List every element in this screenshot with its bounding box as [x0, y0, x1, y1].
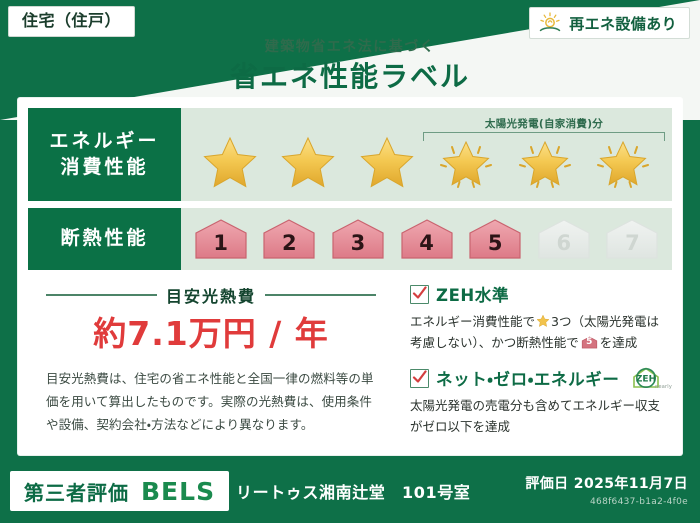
insulation-level-house: 1: [192, 217, 250, 261]
evaluation-info: 評価日 2025年11月7日 468f6437-b1a2-4f0e: [525, 473, 688, 507]
checkbox-checked-icon: [410, 285, 429, 304]
insulation-performance-row: 断熱性能 1 2: [28, 208, 672, 270]
insulation-level-number: 3: [351, 233, 366, 261]
housing-type-tag: 住宅（住戸）: [8, 6, 135, 37]
energy-row-label-line1: エネルギー: [49, 129, 159, 155]
criterion-body-post: を達成: [600, 335, 638, 350]
cost-rule-left: [46, 294, 157, 296]
criterion-body-starcount: 3つ（太陽光発電: [551, 314, 646, 329]
insulation-level-house: 7: [603, 217, 661, 261]
inline-house-icon: 5: [581, 335, 598, 350]
zeh-logo-icon: ZEH nearly: [630, 366, 670, 390]
building-name: リートゥス湘南辻堂 101号室: [236, 479, 470, 503]
renewable-equipment-badge: 再エネ設備あり: [529, 7, 690, 39]
insulation-level-number: 2: [282, 233, 297, 261]
energy-star-rating: [181, 108, 672, 201]
sun-icon: [538, 12, 562, 34]
svg-text:ZEH: ZEH: [636, 375, 656, 385]
star-icon-solar: [593, 133, 653, 191]
evaluation-date: 評価日 2025年11月7日: [525, 473, 688, 493]
criterion-body: 太陽光発電の売電分も含めてエネルギー収支がゼロ以下を達成: [410, 396, 670, 437]
energy-row-body: 太陽光発電(自家消費)分: [181, 108, 672, 201]
insulation-level-number: 6: [556, 233, 571, 261]
cost-note: 目安光熱費は、住宅の省エネ性能と全国一律の燃料等の単価を用いて算出したものです。…: [46, 367, 376, 436]
inline-house-number: 5: [581, 336, 598, 349]
criterion-title-row: ネット・ゼロ・エネルギー ZEH nearly: [410, 366, 670, 390]
energy-label-root: 住宅（住戸） 再エネ設備あり 建築物省エネ法に基づく 省エネ性能ラベル: [0, 0, 700, 523]
criteria-block: ZEH水準 エネルギー消費性能で3つ（太陽光発電は考慮しない）、かつ断熱性能で5…: [410, 282, 670, 451]
star-icon: [200, 133, 260, 191]
page-title: 建築物省エネ法に基づく 省エネ性能ラベル: [0, 40, 700, 94]
star-icon-solar: [515, 133, 575, 191]
insulation-level-number: 1: [213, 233, 228, 261]
header-main-title: 省エネ性能ラベル: [0, 59, 700, 94]
insulation-row-body: 1 2 3 4 5: [181, 208, 672, 270]
insulation-level-house: 4: [398, 217, 456, 261]
renewable-badge-label: 再エネ設備あり: [569, 13, 677, 34]
bels-certification-box: 第三者評価 BELS: [10, 471, 229, 511]
star-icon: [357, 133, 417, 191]
insulation-level-house: 2: [260, 217, 318, 261]
insulation-level-house: 5: [466, 217, 524, 261]
insulation-level-house: 3: [329, 217, 387, 261]
evaluation-id: 468f6437-b1a2-4f0e: [525, 497, 688, 507]
insulation-level-scale: 1 2 3 4 5: [181, 208, 672, 270]
cost-heading: 目安光熱費: [166, 283, 256, 307]
cost-value: 約7.1万円 / 年: [46, 317, 376, 350]
inline-star-icon: [536, 314, 550, 328]
label-card: エネルギー 消費性能 太陽光発電(自家消費)分: [18, 98, 682, 455]
criterion-title-row: ZEH水準: [410, 282, 670, 306]
bels-en-label: BELS: [141, 477, 215, 506]
star-icon: [278, 133, 338, 191]
insulation-level-number: 7: [625, 233, 640, 261]
insulation-row-label: 断熱性能: [28, 208, 181, 270]
criterion-zeh-standard: ZEH水準 エネルギー消費性能で3つ（太陽光発電は考慮しない）、かつ断熱性能で5…: [410, 282, 670, 353]
header-subtitle: 建築物省エネ法に基づく: [0, 40, 700, 54]
insulation-level-number: 5: [488, 233, 503, 261]
footer: 第三者評価 BELS リートゥス湘南辻堂 101号室 評価日 2025年11月7…: [0, 461, 700, 523]
bels-jp-label: 第三者評価: [24, 477, 129, 506]
energy-row-label-line2: 消費性能: [60, 155, 148, 181]
energy-performance-row: エネルギー 消費性能 太陽光発電(自家消費)分: [28, 108, 672, 201]
criterion-body-pre: エネルギー消費性能で: [410, 314, 535, 329]
criterion-title: ZEH水準: [436, 282, 509, 306]
criterion-title: ネット・ゼロ・エネルギー: [436, 366, 619, 390]
zeh-logo-subtext: nearly: [655, 384, 672, 390]
cost-rule-right: [265, 294, 376, 296]
energy-row-label: エネルギー 消費性能: [28, 108, 181, 201]
criterion-net-zero-energy: ネット・ゼロ・エネルギー ZEH nearly 太陽光発電の売電分も含めてエネル…: [410, 366, 670, 437]
criterion-body: エネルギー消費性能で3つ（太陽光発電は考慮しない）、かつ断熱性能で5を達成: [410, 312, 670, 353]
star-icon-solar: [436, 133, 496, 191]
cost-heading-row: 目安光熱費: [46, 283, 376, 307]
insulation-level-number: 4: [419, 233, 434, 261]
estimated-utility-cost-block: 目安光熱費 約7.1万円 / 年 目安光熱費は、住宅の省エネ性能と全国一律の燃料…: [46, 283, 376, 436]
checkbox-checked-icon: [410, 369, 429, 388]
insulation-level-house: 6: [535, 217, 593, 261]
